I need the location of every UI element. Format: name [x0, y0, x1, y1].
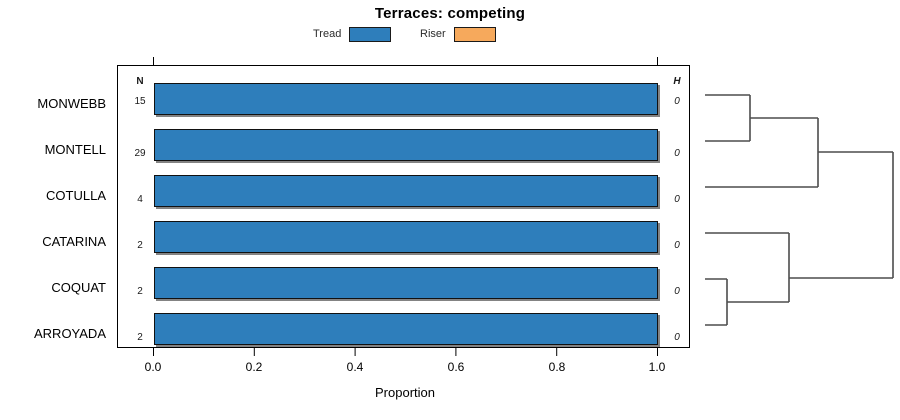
bar-coquat[interactable]	[154, 267, 658, 299]
legend: Tread Riser	[305, 25, 605, 45]
xtick-0: 0.0	[133, 360, 173, 374]
xtick-2: 0.4	[335, 360, 375, 374]
category-axis-labels: MONWEBB MONTELL COTULLA CATARINA COQUAT …	[0, 65, 110, 348]
bar-arroyada[interactable]	[154, 313, 658, 345]
bar-montell[interactable]	[154, 129, 658, 161]
legend-item-riser[interactable]: Riser	[420, 25, 496, 43]
bar-cotulla[interactable]	[154, 175, 658, 207]
chart-title: Terraces: competing	[0, 5, 900, 22]
bar-layer	[118, 66, 691, 349]
legend-label-tread: Tread	[313, 28, 341, 40]
category-label-cotulla: COTULLA	[46, 189, 106, 202]
legend-label-riser: Riser	[420, 28, 446, 40]
xtick-5: 1.0	[637, 360, 677, 374]
legend-item-tread[interactable]: Tread	[313, 25, 391, 43]
plot-panel: N 15 29 4 2 2 2 H 0 0 0 0 0 0	[117, 65, 690, 348]
category-label-montell: MONTELL	[45, 143, 106, 156]
category-label-coquat: COQUAT	[51, 281, 106, 294]
category-label-arroyada: ARROYADA	[34, 327, 106, 340]
bar-monwebb[interactable]	[154, 83, 658, 115]
dendrogram	[690, 60, 900, 360]
bar-catarina[interactable]	[154, 221, 658, 253]
legend-swatch-tread	[349, 27, 391, 42]
category-label-catarina: CATARINA	[42, 235, 106, 248]
category-label-monwebb: MONWEBB	[37, 97, 106, 110]
xtick-4: 0.8	[537, 360, 577, 374]
xtick-1: 0.2	[234, 360, 274, 374]
x-axis-title: Proportion	[290, 385, 520, 400]
chart-canvas: Terraces: competing Tread Riser MONWEBB …	[0, 0, 900, 420]
legend-swatch-riser	[454, 27, 496, 42]
xtick-3: 0.6	[436, 360, 476, 374]
